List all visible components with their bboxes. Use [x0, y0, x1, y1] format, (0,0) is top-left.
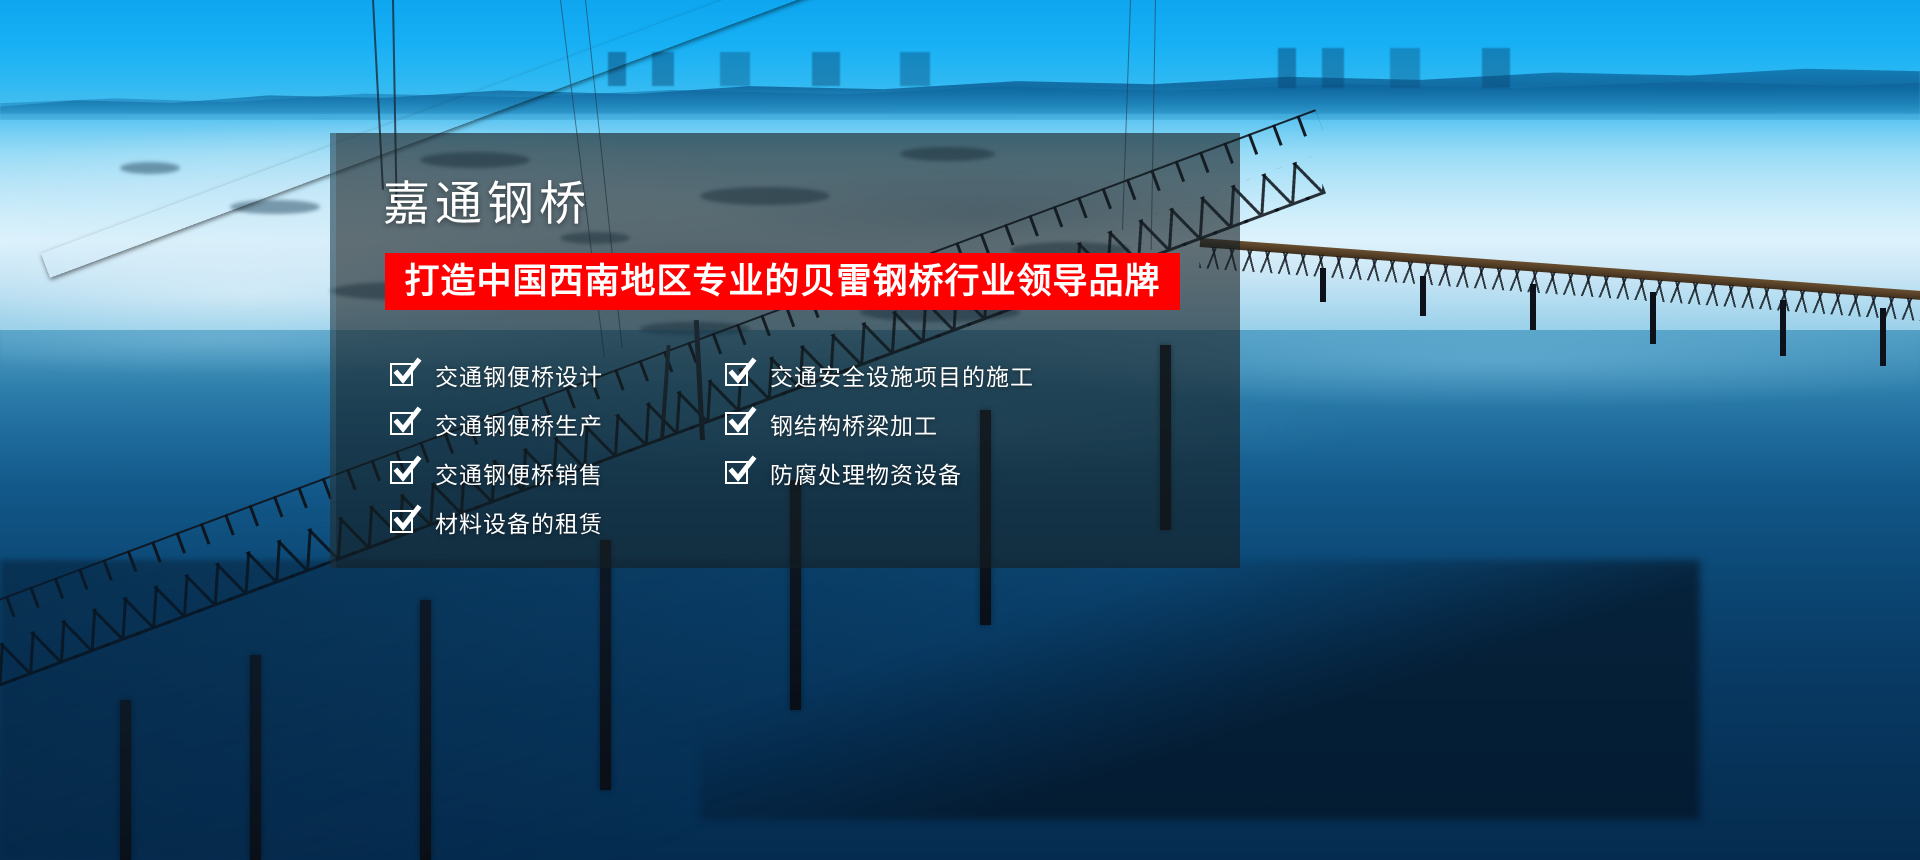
checkbox-checked-icon: [725, 363, 748, 386]
checkbox-checked-icon: [725, 461, 748, 484]
list-item[interactable]: 交通钢便桥设计: [390, 358, 725, 392]
far-pier: [1780, 300, 1786, 356]
service-checklist: 交通钢便桥设计 交通安全设施项目的施工 交通钢便桥生产 钢结构桥梁加工: [390, 350, 1210, 546]
checkbox-checked-icon: [390, 412, 413, 435]
list-item-label: 钢结构桥梁加工: [770, 407, 938, 441]
list-item[interactable]: 防腐处理物资设备: [725, 456, 1210, 490]
list-item-label: 交通钢便桥生产: [435, 407, 603, 441]
far-pier: [1530, 284, 1536, 330]
checkbox-checked-icon: [390, 363, 413, 386]
checkbox-checked-icon: [725, 412, 748, 435]
list-item-label: 交通钢便桥销售: [435, 456, 603, 490]
list-item-label: 交通安全设施项目的施工: [770, 358, 1034, 392]
slogan-text: 打造中国西南地区专业的贝雷钢桥行业领导品牌: [404, 264, 1160, 299]
far-pier: [1650, 292, 1656, 344]
far-pier: [1420, 276, 1426, 316]
page-title: 嘉通钢桥: [383, 178, 591, 230]
list-item[interactable]: 交通钢便桥销售: [390, 456, 725, 490]
checkbox-checked-icon: [390, 461, 413, 484]
far-pier: [1880, 308, 1886, 366]
list-item[interactable]: 交通安全设施项目的施工: [725, 358, 1210, 392]
far-pier: [1320, 268, 1326, 302]
list-item[interactable]: 交通钢便桥生产: [390, 407, 725, 441]
checkbox-checked-icon: [390, 510, 413, 533]
list-item-label: 防腐处理物资设备: [770, 456, 962, 490]
bridge-water-reflection: [700, 560, 1700, 820]
list-item-label: 材料设备的租赁: [435, 505, 603, 539]
list-item-label: 交通钢便桥设计: [435, 358, 603, 392]
hero-banner: 嘉通钢桥 打造中国西南地区专业的贝雷钢桥行业领导品牌 交通钢便桥设计 交通安全设…: [0, 0, 1920, 860]
content-panel-edge: [330, 133, 336, 568]
slogan-banner: 打造中国西南地区专业的贝雷钢桥行业领导品牌: [385, 253, 1180, 310]
list-item[interactable]: 材料设备的租赁: [390, 505, 725, 539]
list-item[interactable]: 钢结构桥梁加工: [725, 407, 1210, 441]
